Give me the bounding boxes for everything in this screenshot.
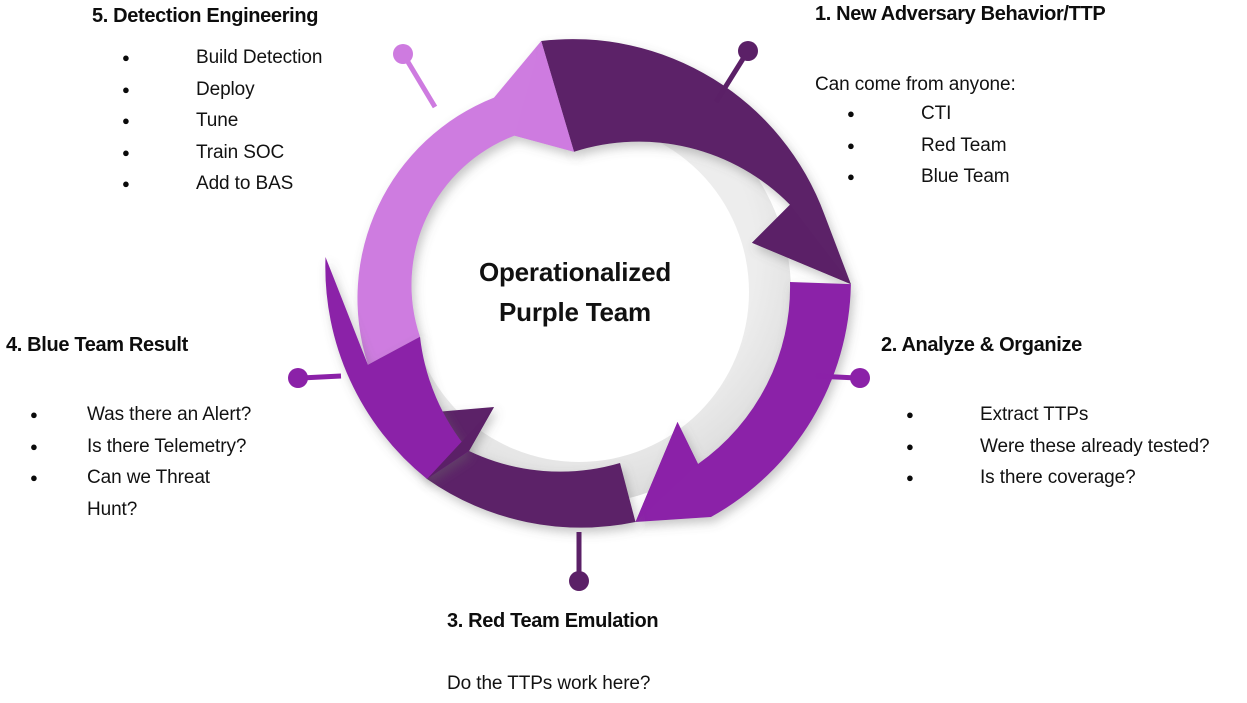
connector-step-5 — [393, 44, 435, 107]
step-4-title: 4. Blue Team Result — [6, 334, 251, 357]
step-1-title: 1. New Adversary Behavior/TTP — [815, 3, 1105, 26]
center-title-line-1: Operationalized — [430, 253, 720, 293]
center-title-line-2: Purple Team — [430, 293, 720, 333]
step-block-new-adversary-behavior: 1. New Adversary Behavior/TTP Can come f… — [815, 3, 1105, 193]
step-3-intro: Do the TTPs work here? — [447, 673, 867, 695]
list-item: Add to BAS — [122, 168, 322, 200]
step-block-blue-team-result: 4. Blue Team Result Was there an Alert? … — [6, 334, 251, 525]
connector-step-3 — [569, 532, 589, 591]
step-2-list: Extract TTPs Were these already tested? … — [906, 399, 1209, 494]
list-item: Red Team — [847, 130, 1105, 162]
connector-dot-step-1 — [738, 41, 758, 61]
step-5-title: 5. Detection Engineering — [92, 5, 322, 28]
step-block-analyze-organize: 2. Analyze & Organize Extract TTPs Were … — [881, 334, 1209, 494]
list-item: Tune — [122, 105, 322, 137]
list-item: Blue Team — [847, 161, 1105, 193]
list-item: Extract TTPs — [906, 399, 1209, 431]
connector-dot-step-4 — [288, 368, 308, 388]
list-item: Is there Telemetry? — [30, 431, 251, 463]
list-item: Deploy — [122, 74, 322, 106]
step-block-detection-engineering: 5. Detection Engineering Build Detection… — [92, 5, 322, 200]
list-item: Is there coverage? — [906, 462, 1209, 494]
step-1-intro: Can come from anyone: — [815, 74, 1105, 96]
list-item: Were these already tested? — [906, 431, 1209, 463]
connector-dot-step-2 — [850, 368, 870, 388]
list-item: Was there an Alert? — [30, 399, 251, 431]
step-1-list: CTI Red Team Blue Team — [847, 98, 1105, 193]
list-item: Build Detection — [122, 42, 322, 74]
connector-step-1 — [716, 41, 758, 102]
step-5-list: Build Detection Deploy Tune Train SOC Ad… — [122, 42, 322, 200]
diagram-canvas: Operationalized Purple Team 5. Detection… — [0, 0, 1247, 703]
step-block-red-team-emulation: 3. Red Team Emulation Do the TTPs work h… — [447, 610, 867, 695]
step-3-title: 3. Red Team Emulation — [447, 610, 867, 633]
list-item: Train SOC — [122, 137, 322, 169]
step-2-title: 2. Analyze & Organize — [881, 334, 1209, 357]
connector-dot-step-3 — [569, 571, 589, 591]
connector-dot-step-5 — [393, 44, 413, 64]
step-4-list: Was there an Alert? Is there Telemetry? … — [30, 399, 251, 525]
list-item: CTI — [847, 98, 1105, 130]
connector-step-4 — [288, 368, 341, 388]
list-item: Can we Threat Hunt? — [30, 462, 215, 525]
center-title: Operationalized Purple Team — [430, 253, 720, 332]
